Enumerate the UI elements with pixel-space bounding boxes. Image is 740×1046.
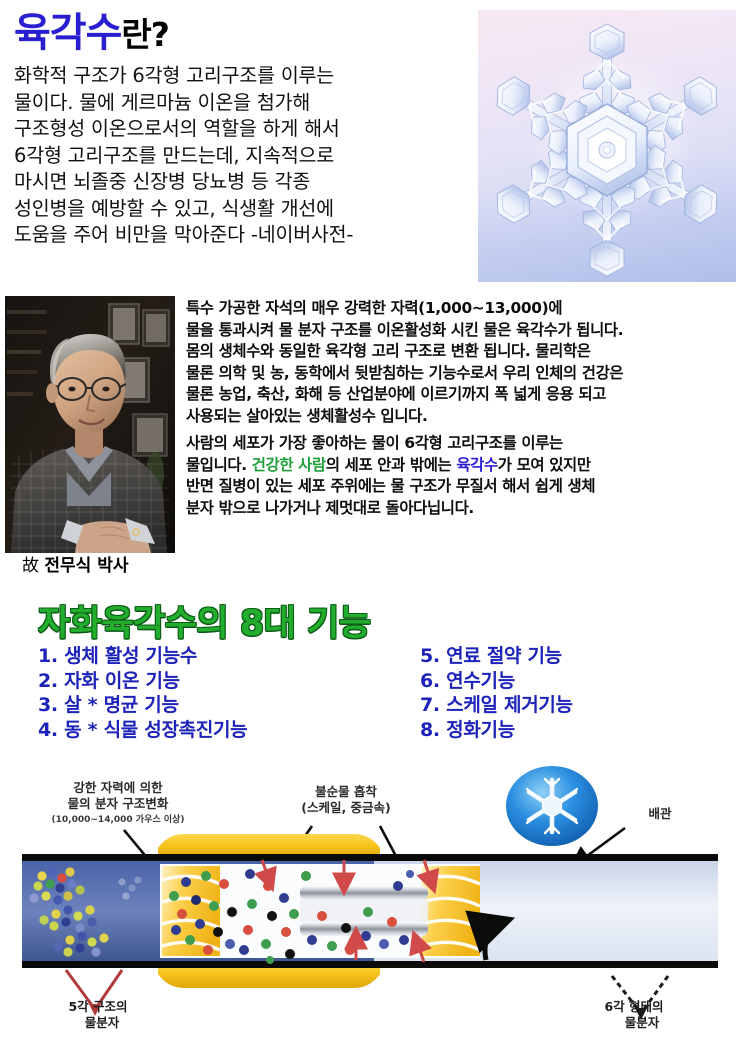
snowflake-crystal-icon xyxy=(478,10,736,282)
pipe-diagram-section: 강한 자력에 의한 물의 분자 구조변화 (10,000~14,000 가우스 … xyxy=(0,764,740,1046)
diagram-label-left-title-line1: 강한 자력에 의한 xyxy=(73,780,163,795)
doctor-description-line: 사용되는 살아있는 생체활성수 입니다. xyxy=(186,406,738,428)
snowflake-photo xyxy=(478,10,736,282)
intro-line: 물이다. 물에 게르마늄 이온을 첨가해 xyxy=(14,90,476,117)
intro-line: 구조형성 이온으로서의 역할을 하게 해서 xyxy=(14,116,476,143)
diagram-label-left-subtitle: (10,000~14,000 가우스 이상) xyxy=(52,813,185,825)
doctor-description-line: 물론 의학 및 농, 동학에서 뒷받침하는 기능수로서 우리 인체의 건강은 xyxy=(186,363,738,385)
text-run: 의 세포 안과 밖에는 xyxy=(326,456,457,474)
doctor-description-line: 물을 통과시켜 물 분자 구조를 이온활성화 시킨 물은 육각수가 됩니다. xyxy=(186,320,738,342)
functions-section: 자화육각수의 8대 기능 1. 생체 활성 기능수 2. 자화 이온 기능 3.… xyxy=(0,584,740,764)
functions-list-left: 1. 생체 활성 기능수 2. 자화 이온 기능 3. 살 * 명균 기능 4.… xyxy=(38,644,247,742)
function-item: 1. 생체 활성 기능수 xyxy=(38,644,247,669)
diagram-label-bottom-left-line2: 물분자 xyxy=(85,1015,120,1030)
diagram-label-bottom-left-line1: 5각 구조의 xyxy=(68,999,127,1014)
doctor-description-line: 몸의 생체수와 동일한 육각형 고리 구조로 변환 됩니다. 물리학은 xyxy=(186,341,738,363)
diagram-label-bottom-right-line2: 물분자 xyxy=(625,1015,660,1030)
doctor-section: 故 전무식 박사 특수 가공한 자석의 매우 강력한 자력(1,000~13,0… xyxy=(0,292,740,584)
page-title-rest: 란? xyxy=(121,15,169,54)
page-title: 육각수란? xyxy=(14,13,169,53)
intro-line: 화학적 구조가 6각형 고리구조를 이루는 xyxy=(14,63,476,90)
doctor-description-line: 특수 가공한 자석의 매우 강력한 자력(1,000~13,000)에 xyxy=(186,298,738,320)
doctor-description: 특수 가공한 자석의 매우 강력한 자력(1,000~13,000)에 물을 통… xyxy=(186,298,738,519)
intro-line: 성인병을 예방할 수 있고, 식생활 개선에 xyxy=(14,196,476,223)
intro-section: 육각수란? 화학적 구조가 6각형 고리구조를 이루는 물이다. 물에 게르마늄… xyxy=(0,0,740,292)
text-run: 물입니다. xyxy=(186,456,252,474)
hexagonal-water-badge xyxy=(506,766,598,846)
diagram-label-center-line1: 불순물 흡착 xyxy=(315,784,377,799)
intro-line: 6각형 고리구조를 만드는데, 지속적으로 xyxy=(14,143,476,170)
diagram-label-left-title-line2: 물의 분자 구조변화 xyxy=(68,796,169,811)
function-item: 4. 동 * 식물 성장촉진기능 xyxy=(38,718,247,743)
doctor-caption-name: 전무식 박사 xyxy=(44,556,128,576)
keyword-healthy-person: 건강한 사람 xyxy=(252,456,326,474)
pipe-diagram: 강한 자력에 의한 물의 분자 구조변화 (10,000~14,000 가우스 … xyxy=(0,764,740,1046)
doctor-caption: 故 전무식 박사 xyxy=(22,556,129,576)
portrait-illustration xyxy=(5,296,175,553)
doctor-description-line: 물입니다. 건강한 사람의 세포 안과 밖에는 육각수가 모여 있지만 xyxy=(186,455,738,477)
intro-paragraph: 화학적 구조가 6각형 고리구조를 이루는 물이다. 물에 게르마늄 이온을 첨… xyxy=(14,63,476,249)
functions-heading: 자화육각수의 8대 기능 xyxy=(38,595,371,646)
functions-list-right: 5. 연료 절약 기능 6. 연수기능 7. 스케일 제거기능 8. 정화기능 xyxy=(420,644,573,742)
diagram-label-bottom-right-line1: 6각 형태의 xyxy=(604,999,663,1014)
pipe-wall-bottom xyxy=(22,961,718,968)
doctor-description-line: 분자 밖으로 나가거나 제멋대로 돌아다닙니다. xyxy=(186,498,738,520)
core-rod-upper xyxy=(300,886,428,900)
intro-line: 마시면 뇌졸중 신장병 당뇨병 등 각종 xyxy=(14,169,476,196)
text-run: 가 모여 있지만 xyxy=(498,456,591,474)
diagram-label-center-line2: (스케일, 중금속) xyxy=(301,800,391,815)
doctor-description-line: 반면 질병이 있는 세포 주위에는 물 구조가 무질서 해서 쉽게 생체 xyxy=(186,476,738,498)
doctor-description-line: 물론 농업, 축산, 화해 등 산업분야에 이르기까지 폭 넓게 응용 되고 xyxy=(186,384,738,406)
function-item: 3. 살 * 명균 기능 xyxy=(38,693,247,718)
function-item: 6. 연수기능 xyxy=(420,669,573,694)
keyword-hexagonal-water: 육각수 xyxy=(456,456,497,474)
intro-line: 도움을 주어 비만을 막아준다 -네이버사전- xyxy=(14,222,476,249)
page-title-highlight: 육각수 xyxy=(14,10,121,56)
doctor-caption-prefix: 故 xyxy=(22,556,39,576)
doctor-description-paragraph2: 사람의 세포가 가장 좋아하는 물이 6각형 고리구조를 이루는 물입니다. 건… xyxy=(186,433,738,519)
function-item: 8. 정화기능 xyxy=(420,718,573,743)
function-item: 5. 연료 절약 기능 xyxy=(420,644,573,669)
doctor-portrait-photo xyxy=(5,296,175,553)
function-item: 2. 자화 이온 기능 xyxy=(38,669,247,694)
doctor-description-line: 사람의 세포가 가장 좋아하는 물이 6각형 고리구조를 이루는 xyxy=(186,433,738,455)
pipe-wall-top xyxy=(22,854,718,861)
function-item: 7. 스케일 제거기능 xyxy=(420,693,573,718)
diagram-label-pipe: 배관 xyxy=(648,806,672,821)
